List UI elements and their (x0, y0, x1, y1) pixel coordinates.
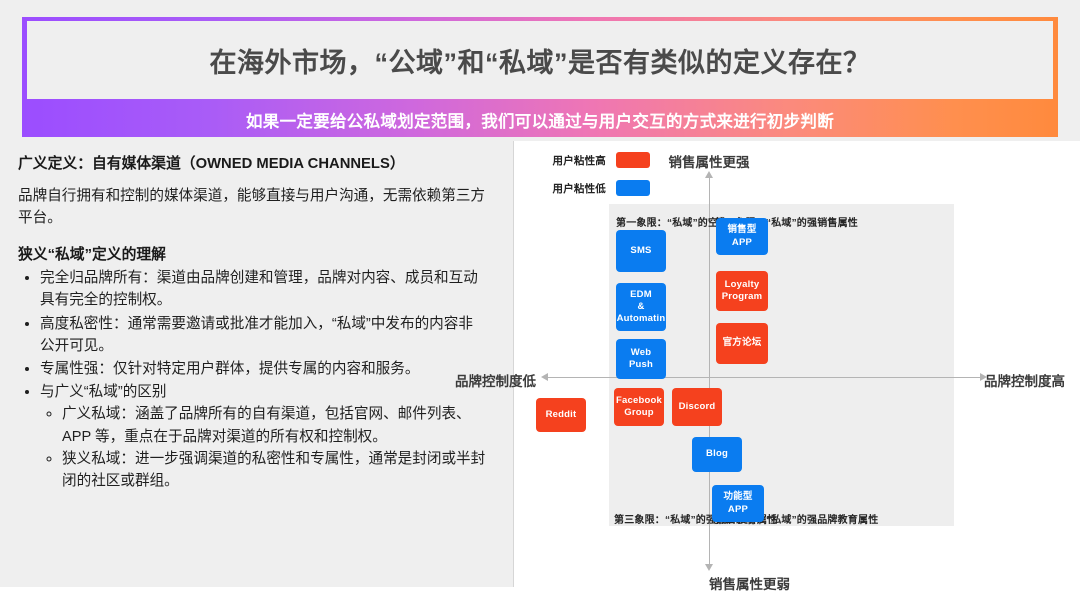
chart-node-label: LoyaltyProgram (722, 279, 762, 303)
y-axis-down-arrow-icon (705, 564, 713, 571)
list-item: 高度私密性：通常需要邀请或批准才能加入，“私域”中发布的内容非公开可见。 (40, 313, 487, 357)
chart-node-label: Blog (706, 448, 728, 460)
axis-caption-top: 销售属性更强 (669, 151, 750, 171)
chart-node[interactable]: LoyaltyProgram (716, 271, 768, 311)
chart-node-label: SMS (630, 245, 651, 257)
chart-node-label: FacebookGroup (616, 395, 662, 419)
broad-definition-heading: 广义定义：自有媒体渠道（OWNED MEDIA CHANNELS） (18, 155, 487, 175)
legend-label: 用户粘性高 (544, 153, 606, 168)
chart-node[interactable]: 销售型 APP (716, 218, 768, 255)
subtitle-bar: 如果一定要给公私域划定范围，我们可以通过与用户交互的方式来进行初步判断 (22, 103, 1058, 137)
list-item: 与广义“私域”的区别 广义私域：涵盖了品牌所有的自有渠道，包括官网、邮件列表、A… (40, 381, 487, 492)
header-gradient-band: 在海外市场，“公域”和“私域”是否有类似的定义存在？ 如果一定要给公私域划定范围… (22, 17, 1058, 137)
list-item-label: 与广义“私域”的区别 (40, 384, 166, 400)
axis-caption-right: 品牌控制度高 (984, 370, 1065, 390)
sub-list-item: 广义私域：涵盖了品牌所有的自有渠道，包括官网、邮件列表、APP 等，重点在于品牌… (62, 403, 487, 447)
chart-node[interactable]: EDM&Automatin (616, 283, 666, 331)
legend-item-low: 用户粘性低 (544, 177, 650, 199)
chart-node[interactable]: 功能型 APP (712, 485, 764, 522)
chart-node[interactable]: SMS (616, 230, 666, 272)
legend-swatch-low (616, 180, 650, 196)
chart-node-label: 官方论坛 (723, 337, 762, 349)
quadrant-label-q1: 第一象限：“私域”的空白 (616, 214, 728, 229)
chart-node-label: Reddit (546, 409, 577, 421)
chart-node[interactable]: FacebookGroup (614, 388, 664, 426)
axis-caption-left: 品牌控制度低 (455, 370, 536, 390)
quadrant-chart: 用户粘性高 用户粘性低 销售属性更强 销售属性更弱 品牌控制度低 品牌控制度高 … (514, 141, 1080, 587)
chart-node-label: 功能型 APP (715, 491, 761, 515)
chart-node[interactable]: Blog (692, 437, 742, 472)
slide-root: 在海外市场，“公域”和“私域”是否有类似的定义存在？ 如果一定要给公私域划定范围… (0, 0, 1080, 587)
chart-node[interactable]: Reddit (536, 398, 586, 432)
list-item: 完全归品牌所有：渠道由品牌创建和管理，品牌对内容、成员和互动具有完全的控制权。 (40, 267, 487, 311)
chart-node-label: EDM&Automatin (617, 289, 666, 325)
definition-panel: 广义定义：自有媒体渠道（OWNED MEDIA CHANNELS） 品牌自行拥有… (0, 141, 513, 587)
x-axis-line (544, 377, 984, 378)
chart-panel: 用户粘性高 用户粘性低 销售属性更强 销售属性更弱 品牌控制度低 品牌控制度高 … (514, 141, 1080, 587)
chart-node-label: 销售型 APP (719, 224, 765, 248)
narrow-definition-sublist: 广义私域：涵盖了品牌所有的自有渠道，包括官网、邮件列表、APP 等，重点在于品牌… (40, 403, 487, 492)
narrow-definition-list: 完全归品牌所有：渠道由品牌创建和管理，品牌对内容、成员和互动具有完全的控制权。 … (18, 267, 487, 492)
list-item: 专属性强：仅针对特定用户群体，提供专属的内容和服务。 (40, 358, 487, 380)
legend-label: 用户粘性低 (544, 181, 606, 196)
page-subtitle: 如果一定要给公私域划定范围，我们可以通过与用户交互的方式来进行初步判断 (246, 108, 834, 132)
y-axis-line (709, 174, 710, 569)
x-axis-left-arrow-icon (541, 373, 548, 381)
sub-list-item: 狭义私域：进一步强调渠道的私密性和专属性，通常是封闭或半封闭的社区或群组。 (62, 448, 487, 492)
legend-item-high: 用户粘性高 (544, 149, 650, 171)
legend-swatch-high (616, 152, 650, 168)
chart-node-label: Discord (679, 401, 716, 413)
axis-caption-bottom: 销售属性更弱 (709, 573, 790, 593)
broad-definition-paragraph: 品牌自行拥有和控制的媒体渠道，能够直接与用户沟通，无需依赖第三方平台。 (18, 185, 487, 229)
title-plate: 在海外市场，“公域”和“私域”是否有类似的定义存在？ (27, 21, 1053, 99)
narrow-definition-heading: 狭义“私域”定义的理解 (18, 243, 487, 264)
chart-node[interactable]: Web Push (616, 339, 666, 379)
chart-node[interactable]: 官方论坛 (716, 323, 768, 364)
chart-legend: 用户粘性高 用户粘性低 (544, 149, 650, 205)
chart-node-label: Web Push (619, 347, 663, 371)
chart-node[interactable]: Discord (672, 388, 722, 426)
page-title: 在海外市场，“公域”和“私域”是否有类似的定义存在？ (210, 41, 871, 80)
y-axis-up-arrow-icon (705, 171, 713, 178)
